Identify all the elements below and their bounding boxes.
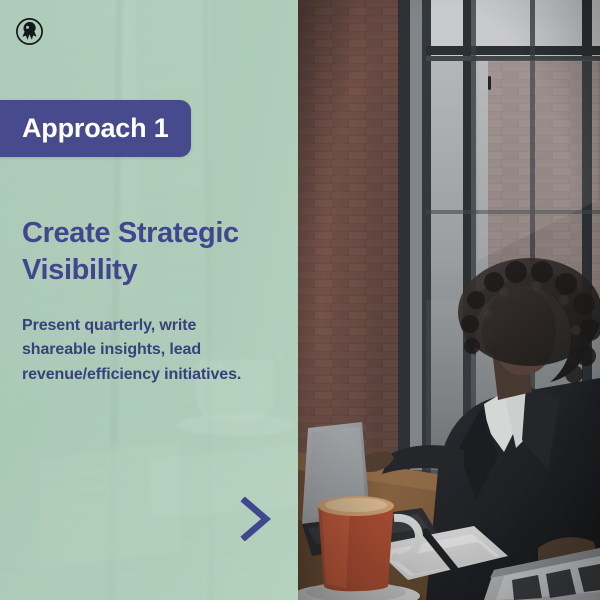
office-photo: [298, 0, 600, 600]
chevron-right-icon[interactable]: [240, 497, 274, 541]
approach-badge: Approach 1: [0, 100, 191, 157]
slide-card: Approach 1 Create Strategic Visibility P…: [0, 0, 600, 600]
approach-badge-label: Approach 1: [22, 113, 169, 144]
description-text: Present quarterly, write shareable insig…: [22, 314, 262, 387]
page-title: Create Strategic Visibility: [22, 215, 272, 288]
brand-logo: [15, 17, 44, 46]
left-content-panel: Approach 1 Create Strategic Visibility P…: [0, 0, 298, 600]
